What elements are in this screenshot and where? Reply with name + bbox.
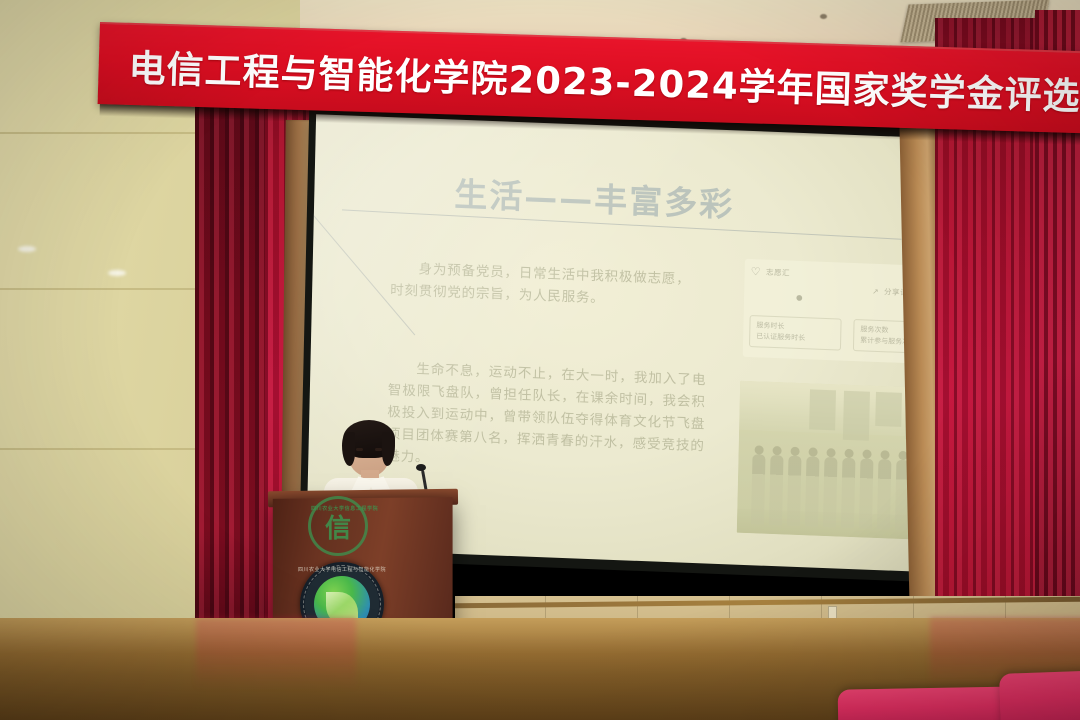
podium-logo-arc-text: 四川农业大学信息工程学院 xyxy=(311,505,365,512)
auditorium-scene: 生活——丰富多彩 身为预备党员，日常生活中我积极做志愿，时刻贯彻党的宗旨，为人民… xyxy=(0,0,1080,720)
app-like-row: ♡ 志愿汇 xyxy=(751,265,791,280)
event-banner-text: 电信工程与智能化学院2023-2024学年国家奖学金评选 xyxy=(98,37,1080,120)
app-card-value: 已认证服务时长 xyxy=(756,331,834,345)
app-dot-icon: ● xyxy=(796,293,803,302)
app-card-service-hours: 服务时长 已认证服务时长 xyxy=(749,315,842,351)
share-icon: ↗ xyxy=(872,287,879,296)
heart-icon: ♡ xyxy=(751,265,762,278)
wall-light-reflection xyxy=(18,246,36,252)
slide-paragraph-volunteer: 身为预备党员，日常生活中我积极做志愿，时刻贯彻党的宗旨，为人民服务。 xyxy=(390,257,691,313)
wall-light-reflection xyxy=(108,270,126,276)
podium-logo-initial: 信 xyxy=(325,508,351,545)
podium-university-logo: 四川农业大学信息工程学院 信 xyxy=(308,496,368,556)
dot-icon: ● xyxy=(796,293,803,302)
slide-team-photo xyxy=(737,381,931,541)
microphone-icon xyxy=(416,464,426,471)
ceiling-spot xyxy=(820,14,827,19)
app-like-label: 志愿汇 xyxy=(766,267,790,279)
slide-paragraph-sports: 生命不息，运动不止，在大一时，我加入了电智极限飞盘队，曾担任队长，在课余时间，我… xyxy=(386,357,706,479)
audience-seat xyxy=(999,670,1080,720)
